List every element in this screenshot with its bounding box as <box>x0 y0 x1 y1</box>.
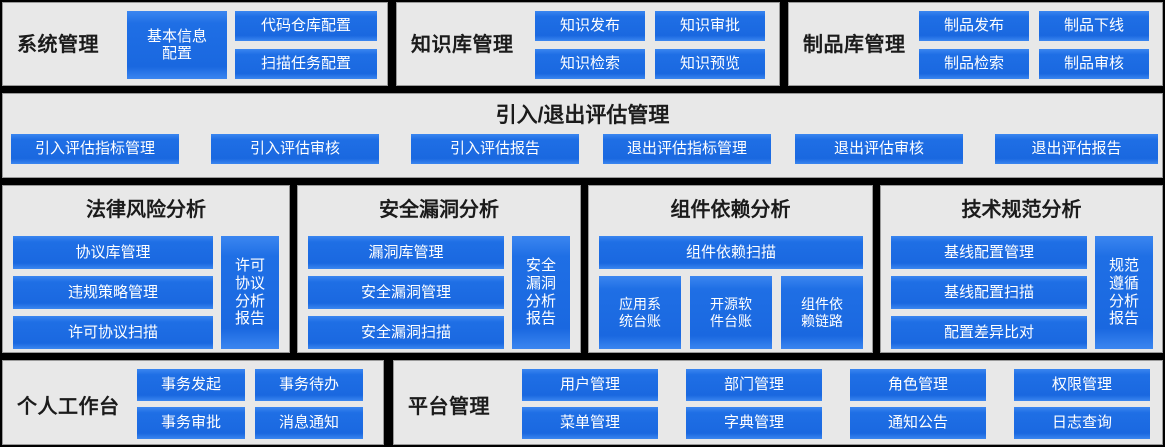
architecture-diagram-canvas: 系统管理 基本信息 配置 代码仓库配置 扫描任务配置 知识库管理 知识发布 知识… <box>0 0 1165 447</box>
button-security-vulnerability-scan[interactable]: 安全漏洞扫描 <box>308 316 504 349</box>
button-component-dependency-scan[interactable]: 组件依赖扫描 <box>599 236 863 269</box>
section-personal-workbench: 个人工作台 事务发起 事务待办 事务审批 消息通知 <box>2 360 384 445</box>
button-vulnerability-repo-management[interactable]: 漏洞库管理 <box>308 236 504 269</box>
button-intro-eval-report[interactable]: 引入评估报告 <box>411 134 579 164</box>
button-exit-eval-index-management[interactable]: 退出评估指标管理 <box>603 134 771 164</box>
button-log-query[interactable]: 日志查询 <box>1014 407 1150 439</box>
button-license-analysis-report[interactable]: 许可 协议 分析 报告 <box>221 236 279 349</box>
button-application-system-ledger[interactable]: 应用系 统台账 <box>599 276 681 349</box>
button-task-approval[interactable]: 事务审批 <box>137 407 245 439</box>
button-knowledge-search[interactable]: 知识检索 <box>535 49 645 79</box>
button-dictionary-management[interactable]: 字典管理 <box>686 407 822 439</box>
button-config-difference-comparison[interactable]: 配置差异比对 <box>891 316 1087 349</box>
button-message-notification[interactable]: 消息通知 <box>255 407 363 439</box>
section-title-technical-standard-analysis: 技术规范分析 <box>881 200 1162 220</box>
button-task-todo[interactable]: 事务待办 <box>255 369 363 401</box>
button-role-management[interactable]: 角色管理 <box>850 369 986 401</box>
button-baseline-config-management[interactable]: 基线配置管理 <box>891 236 1087 269</box>
button-open-source-software-ledger[interactable]: 开源软 件台账 <box>690 276 772 349</box>
section-legal-risk-analysis: 法律风险分析 协议库管理 违规策略管理 许可协议扫描 许可 协议 分析 报告 <box>2 185 290 353</box>
section-system-management: 系统管理 基本信息 配置 代码仓库配置 扫描任务配置 <box>2 2 388 86</box>
button-scan-task-config[interactable]: 扫描任务配置 <box>235 49 377 79</box>
button-intro-eval-index-management[interactable]: 引入评估指标管理 <box>11 134 179 164</box>
button-artifact-offline[interactable]: 制品下线 <box>1039 11 1149 41</box>
button-security-vulnerability-management[interactable]: 安全漏洞管理 <box>308 276 504 309</box>
section-artifact-repo-management: 制品库管理 制品发布 制品下线 制品检索 制品审核 <box>788 2 1163 86</box>
section-component-dependency-analysis: 组件依赖分析 组件依赖扫描 应用系 统台账 开源软 件台账 组件依 赖链路 <box>588 185 873 353</box>
button-license-agreement-scan[interactable]: 许可协议扫描 <box>13 316 213 349</box>
section-title-platform-management: 平台管理 <box>408 397 490 417</box>
button-violation-policy-management[interactable]: 违规策略管理 <box>13 276 213 309</box>
button-permission-management[interactable]: 权限管理 <box>1014 369 1150 401</box>
button-artifact-search[interactable]: 制品检索 <box>919 49 1029 79</box>
button-security-vulnerability-analysis-report[interactable]: 安全 漏洞 分析 报告 <box>512 236 570 349</box>
button-knowledge-preview[interactable]: 知识预览 <box>655 49 765 79</box>
section-title-component-dependency-analysis: 组件依赖分析 <box>589 200 872 220</box>
button-department-management[interactable]: 部门管理 <box>686 369 822 401</box>
section-title-personal-workbench: 个人工作台 <box>17 397 120 417</box>
section-title-legal-risk-analysis: 法律风险分析 <box>3 200 289 220</box>
section-platform-management: 平台管理 用户管理 部门管理 角色管理 权限管理 菜单管理 字典管理 通知公告 … <box>393 360 1163 445</box>
button-code-repo-config[interactable]: 代码仓库配置 <box>235 11 377 41</box>
section-title-artifact-repo-management: 制品库管理 <box>803 35 906 55</box>
button-intro-eval-audit[interactable]: 引入评估审核 <box>211 134 379 164</box>
section-evaluation-management: 引入/退出评估管理 引入评估指标管理 引入评估审核 引入评估报告 退出评估指标管… <box>2 93 1163 178</box>
section-title-evaluation-management: 引入/退出评估管理 <box>3 105 1162 126</box>
section-knowledge-base-management: 知识库管理 知识发布 知识审批 知识检索 知识预览 <box>396 2 780 86</box>
section-title-knowledge-base-management: 知识库管理 <box>411 35 514 55</box>
button-exit-eval-audit[interactable]: 退出评估审核 <box>795 134 963 164</box>
section-technical-standard-analysis: 技术规范分析 基线配置管理 基线配置扫描 配置差异比对 规范 遵循 分析 报告 <box>880 185 1163 353</box>
button-baseline-config-scan[interactable]: 基线配置扫描 <box>891 276 1087 309</box>
button-menu-management[interactable]: 菜单管理 <box>522 407 658 439</box>
button-notice-announcement[interactable]: 通知公告 <box>850 407 986 439</box>
button-exit-eval-report[interactable]: 退出评估报告 <box>995 134 1158 164</box>
button-standard-compliance-analysis-report[interactable]: 规范 遵循 分析 报告 <box>1095 236 1153 349</box>
button-knowledge-approval[interactable]: 知识审批 <box>655 11 765 41</box>
button-knowledge-publish[interactable]: 知识发布 <box>535 11 645 41</box>
button-basic-info-config[interactable]: 基本信息 配置 <box>127 11 227 79</box>
section-security-vulnerability-analysis: 安全漏洞分析 漏洞库管理 安全漏洞管理 安全漏洞扫描 安全 漏洞 分析 报告 <box>297 185 581 353</box>
button-component-dependency-chain[interactable]: 组件依 赖链路 <box>781 276 863 349</box>
button-task-initiate[interactable]: 事务发起 <box>137 369 245 401</box>
button-artifact-publish[interactable]: 制品发布 <box>919 11 1029 41</box>
section-title-security-vulnerability-analysis: 安全漏洞分析 <box>298 200 580 220</box>
section-title-system-management: 系统管理 <box>17 35 99 55</box>
button-artifact-audit[interactable]: 制品审核 <box>1039 49 1149 79</box>
button-license-repo-management[interactable]: 协议库管理 <box>13 236 213 269</box>
button-user-management[interactable]: 用户管理 <box>522 369 658 401</box>
